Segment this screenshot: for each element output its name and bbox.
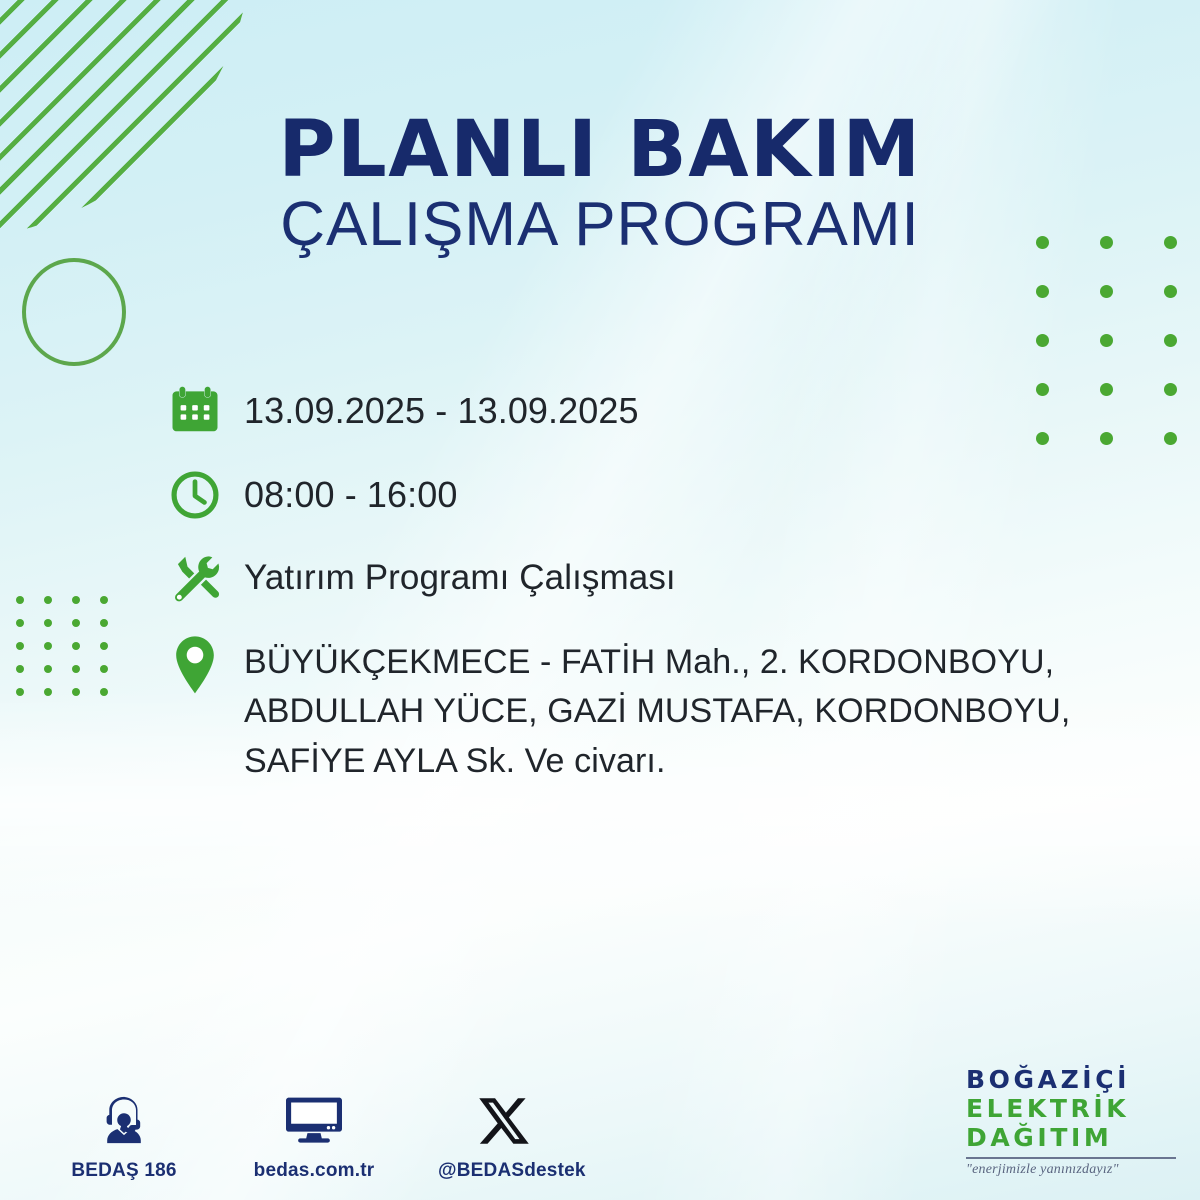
page-title: PLANLI BAKIM — [0, 112, 1200, 188]
clock-icon — [160, 466, 244, 524]
headset-support-icon — [58, 1086, 190, 1148]
maintenance-details: 13.09.2025 - 13.09.2025 08:00 - 16:00 — [160, 382, 1140, 786]
logo-tagline: "enerjimizle yanınızdayız" — [966, 1162, 1176, 1178]
logo-line-elektrik: ELEKTRİK — [966, 1094, 1176, 1123]
tools-icon — [160, 550, 244, 608]
bedas-logo: BOĞAZİÇİ ELEKTRİK DAĞITIM "enerjimizle y… — [966, 1065, 1176, 1178]
detail-row-work-type: Yatırım Programı Çalışması — [160, 550, 1140, 608]
poster-footer: BEDAŞ 186 bedas.com.tr — [0, 1030, 1200, 1200]
location-pin-icon — [160, 634, 244, 696]
work-type-value: Yatırım Programı Çalışması — [244, 550, 1140, 602]
detail-row-address: BÜYÜKÇEKMECE - FATİH Mah., 2. KORDONBOYU… — [160, 634, 1140, 786]
poster-title-block: PLANLI BAKIM ÇALIŞMA PROGRAMI — [0, 112, 1200, 256]
contact-label-phone: BEDAŞ 186 — [58, 1160, 190, 1182]
contact-label-website: bedas.com.tr — [248, 1160, 380, 1182]
dot-grid-left-decoration — [16, 596, 128, 711]
monitor-website-icon — [248, 1086, 380, 1148]
logo-line-dagitim: DAĞITIM — [966, 1123, 1176, 1152]
contact-channels: BEDAŞ 186 bedas.com.tr — [58, 1086, 570, 1182]
x-twitter-icon — [438, 1086, 570, 1148]
circle-outline-decoration — [22, 258, 126, 366]
detail-row-time: 08:00 - 16:00 — [160, 466, 1140, 524]
logo-line-bogazici: BOĞAZİÇİ — [966, 1065, 1176, 1094]
logo-divider — [966, 1157, 1176, 1159]
date-range-value: 13.09.2025 - 13.09.2025 — [244, 382, 1140, 436]
contact-label-social: @BEDASdestek — [438, 1160, 570, 1182]
contact-item-social[interactable]: @BEDASdestek — [438, 1086, 570, 1182]
contact-item-website[interactable]: bedas.com.tr — [248, 1086, 380, 1182]
contact-item-phone[interactable]: BEDAŞ 186 — [58, 1086, 190, 1182]
detail-row-date: 13.09.2025 - 13.09.2025 — [160, 382, 1140, 440]
time-range-value: 08:00 - 16:00 — [244, 466, 1140, 520]
poster-canvas: PLANLI BAKIM ÇALIŞMA PROGRAMI — [0, 0, 1200, 1200]
address-value: BÜYÜKÇEKMECE - FATİH Mah., 2. KORDONBOYU… — [244, 634, 1140, 786]
calendar-icon — [160, 382, 244, 440]
page-subtitle: ÇALIŞMA PROGRAMI — [0, 194, 1200, 256]
